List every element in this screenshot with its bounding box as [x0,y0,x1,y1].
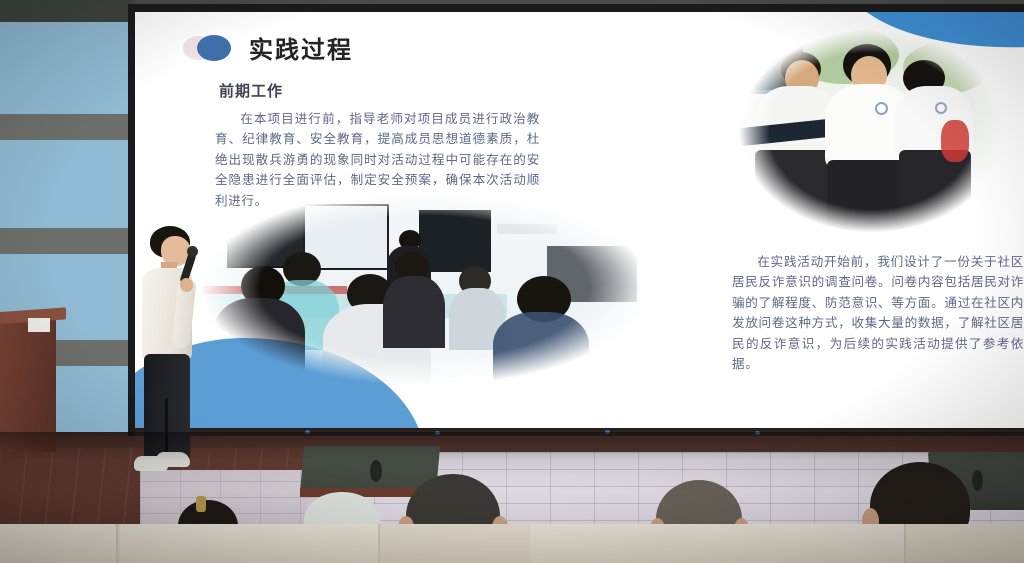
slide-body-right: 在实践活动开始前，我们设计了一份关于社区居民反诈意识的调查问卷。问卷内容包括居民… [732,252,1024,374]
podium-paper [28,318,50,332]
presentation-slide: 实践过程 前期工作 在本项目进行前，指导老师对项目成员进行政治教育、纪律教育、安… [135,12,1024,428]
wall-panel [0,140,132,228]
wall-panel [0,22,132,114]
photo-vehicle [727,76,773,94]
photo-red-flag [941,120,969,162]
microphone-head-icon [187,246,198,257]
wall-band [0,114,132,140]
presenter-shoe [156,452,190,467]
audience-hair-clip [196,496,206,512]
podium [0,312,56,452]
slide-title: 实践过程 [249,30,353,65]
stage-monitor-right-handle [972,470,983,491]
slide-title-row: 实践过程 [183,30,353,65]
photo-person-torso [493,312,589,389]
photo-students-survey [727,20,1017,242]
photo-classroom-meeting [197,194,652,389]
presenter-hand [180,278,193,292]
projection-screen: 实践过程 前期工作 在本项目进行前，指导老师对项目成员进行政治教育、纪律教育、安… [135,12,1024,428]
wall-top-band [0,0,132,22]
blue-ellipse-bullet-icon [197,35,231,61]
wall-band [0,228,132,254]
photo-shirt-logo [935,102,947,114]
seat-cushion [786,524,906,563]
seat-cushion [120,524,380,563]
photo-person-torso [383,276,445,348]
photo-shirt-logo [875,102,888,115]
seat-cushion [530,524,790,563]
presenter-leg-split [165,398,168,460]
presenter-speaker [128,226,214,476]
slide-subtitle: 前期工作 [219,80,283,101]
auditorium-scene: 实践过程 前期工作 在本项目进行前，指导老师对项目成员进行政治教育、纪律教育、安… [0,0,1024,563]
seat-cushion [0,524,118,563]
photo-wall-strip [497,224,557,234]
photo-person-torso [213,298,305,380]
stage-monitor-left-handle [370,460,382,482]
